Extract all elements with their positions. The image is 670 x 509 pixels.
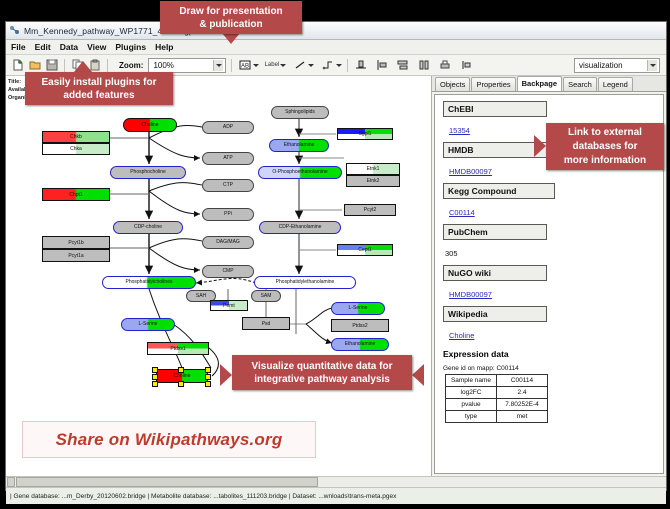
node-ctp[interactable]: CTP (202, 179, 254, 192)
node-label: O-Phosphoethanolamine (272, 170, 327, 175)
callout-draw: Draw for presentation & publication (160, 1, 302, 34)
callout-link-line3: more information (564, 154, 646, 168)
gene-label: Sgpl1 (338, 129, 392, 139)
open-folder-icon[interactable] (27, 58, 42, 73)
node-label: CDP-choline (134, 225, 162, 230)
gene-sgpl1[interactable]: Sgpl1 (337, 128, 393, 140)
node-label: Choline (142, 123, 159, 128)
node-label: Phosphatidylethanolamine (276, 280, 335, 285)
table-cell-key: pvalue (446, 399, 497, 411)
callout-plugins-arrow (74, 61, 92, 72)
align-left-icon[interactable] (374, 58, 389, 73)
table-cell-value: 7.80252E-4 (497, 399, 548, 411)
node-ethanolamine[interactable]: Ethanolamine (269, 139, 329, 152)
label-icon[interactable]: Label (264, 58, 279, 73)
table-row: pvalue 7.80252E-4 (446, 399, 548, 411)
node-label: CDP-Ethanolamine (279, 225, 322, 230)
menu-help[interactable]: Help (155, 42, 173, 52)
table-cell-key: log2FC (446, 387, 497, 399)
node-label: CMP (222, 269, 233, 274)
visualization-combobox[interactable]: visualization (574, 58, 660, 73)
db-header-wikipedia: Wikipedia (443, 306, 547, 322)
line-icon[interactable] (292, 58, 307, 73)
pathvisio-icon (9, 25, 20, 36)
zoom-combobox[interactable]: 100% (148, 58, 226, 73)
sidebar-tabs: Objects Properties Backpage Search Legen… (432, 76, 666, 92)
gene-label: Pcyt1b (43, 237, 109, 248)
db-header-chebi: ChEBI (443, 101, 547, 117)
shape-icon[interactable]: AB (237, 58, 252, 73)
print-icon[interactable] (437, 58, 452, 73)
db-link-nugo[interactable]: HMDB00097 (449, 290, 492, 299)
scroll-thumb[interactable] (16, 477, 318, 487)
node-cdp-choline[interactable]: CDP-choline (113, 221, 183, 234)
node-sam[interactable]: SAM (251, 290, 281, 302)
node-label: DAG/MAG (216, 240, 240, 245)
node-cmp[interactable]: CMP (202, 265, 254, 278)
node-label: L-Serine (139, 322, 158, 327)
node-label: Phosphocholine (130, 170, 166, 175)
toolbar-separator (107, 59, 108, 72)
gene-pemt[interactable]: Pemt (210, 300, 248, 311)
callout-share-text: Share on Wikipathways.org (56, 430, 283, 450)
callout-plugins-line2: added features (41, 89, 156, 102)
resize-handle[interactable] (178, 367, 184, 373)
node-label: SAM (261, 294, 272, 299)
gene-etnk1[interactable]: Etnk1 (346, 163, 400, 175)
node-cdp-ethanolamine[interactable]: CDP-Ethanolamine (259, 221, 341, 234)
node-label: ATP (223, 156, 232, 161)
scroll-left-arrow[interactable] (7, 477, 15, 487)
node-o-phosphoethanolamine[interactable]: O-Phosphoethanolamine (258, 166, 342, 179)
node-label: Ethanolamine (284, 143, 315, 148)
db-link-wikipedia[interactable]: Choline (449, 331, 474, 340)
gene-chpt1[interactable]: Chpt1 (42, 188, 110, 201)
chevron-down-icon[interactable] (308, 64, 314, 67)
node-ppi[interactable]: PPi (202, 208, 254, 221)
gene-label: Pcyt2 (345, 205, 395, 215)
table-cell-value: 2.4 (497, 387, 548, 399)
visualization-value: visualization (579, 61, 623, 70)
gene-pcyt1a[interactable]: Pcyt1a (42, 249, 110, 262)
gene-cept1[interactable]: Cept1 (337, 244, 393, 256)
callout-draw-arrow (222, 33, 240, 44)
gene-chkb[interactable]: Chkb (42, 131, 110, 143)
table-cell-key: type (446, 411, 497, 423)
node-label: Ethanolamine (345, 342, 376, 347)
callout-visualize-arrow (220, 364, 232, 386)
chevron-down-icon[interactable] (280, 64, 286, 67)
node-choline-top[interactable]: Choline (123, 118, 177, 132)
db-value-pubchem: 305 (445, 249, 458, 258)
toolbar-separator (64, 59, 65, 72)
gene-pcyt2[interactable]: Pcyt2 (344, 204, 396, 216)
menu-data[interactable]: Data (60, 42, 78, 52)
size-icon[interactable] (416, 58, 431, 73)
menubar: File Edit Data View Plugins Help (6, 40, 666, 55)
distribute-icon[interactable] (395, 58, 410, 73)
db-link-chebi[interactable]: 15354 (449, 126, 470, 135)
db-header-hmdb: HMDB (443, 142, 547, 158)
gene-label: Ptdss1 (148, 343, 208, 354)
node-sphingolipids[interactable]: Sphingolipids (271, 106, 329, 119)
pathway-canvas[interactable]: Title: Availab Organi (6, 76, 432, 476)
callout-visualize: Visualize quantitative data for integrat… (232, 355, 412, 390)
group-icon[interactable] (458, 58, 473, 73)
gene-label: Pemt (211, 301, 247, 310)
node-label: CTP (223, 183, 233, 188)
node-dagmag[interactable]: DAG/MAG (202, 236, 254, 249)
node-label: Sphingolipids (285, 110, 315, 115)
callout-draw-line1: Draw for presentation (179, 5, 282, 18)
node-atp[interactable]: ATP (202, 152, 254, 165)
chevron-down-icon[interactable] (253, 64, 259, 67)
tab-backpage[interactable]: Backpage (517, 76, 562, 91)
node-label: Phosphatidylcholines (126, 280, 173, 285)
callout-plugins-line1: Easily install plugins for (41, 76, 156, 89)
node-label: Choline (174, 374, 191, 379)
gene-etnk2[interactable]: Etnk2 (346, 175, 400, 187)
gene-pcyt1b[interactable]: Pcyt1b (42, 236, 110, 249)
window-titlebar: Mm_Kennedy_pathway_WP1771_45176.gpml (6, 22, 666, 40)
db-link-hmdb[interactable]: HMDB00097 (449, 167, 492, 176)
table-row: Sample name C00114 (446, 375, 548, 387)
horizontal-scrollbar[interactable] (6, 476, 666, 487)
zoom-label: Zoom: (119, 61, 143, 70)
gene-psd[interactable]: Psd (242, 317, 290, 330)
node-phosphatidylcholines[interactable]: Phosphatidylcholines (102, 276, 196, 289)
gene-ptdss1[interactable]: Ptdss1 (147, 342, 209, 355)
chevron-down-icon[interactable] (336, 64, 342, 67)
gene-chka[interactable]: Chka (42, 143, 110, 155)
callout-plugins: Easily install plugins for added feature… (25, 72, 173, 105)
callout-visualize-arrow-right (412, 364, 424, 386)
gene-label: Chpt1 (43, 189, 109, 200)
menu-view[interactable]: View (87, 42, 106, 52)
gene-label: Pcyt1a (43, 250, 109, 261)
resize-handle[interactable] (152, 374, 158, 380)
gene-label: Psd (243, 318, 289, 329)
resize-handle[interactable] (205, 381, 211, 387)
connector-icon[interactable] (320, 58, 335, 73)
node-label: L-Serine (349, 306, 368, 311)
callout-visualize-line2: integrative pathway analysis (252, 373, 393, 386)
db-link-kegg[interactable]: C00114 (449, 208, 475, 217)
callout-visualize-line1: Visualize quantitative data for (252, 360, 393, 373)
screenshot-root: Mm_Kennedy_pathway_WP1771_45176.gpml Fil… (0, 0, 670, 509)
gene-label: Etnk1 (347, 164, 399, 174)
gene-label: Chkb (43, 132, 109, 142)
gene-ptdss2[interactable]: Ptdss2 (331, 319, 389, 332)
callout-link: Link to external databases for more info… (546, 123, 664, 170)
save-icon[interactable] (44, 58, 59, 73)
toolbar-separator (347, 59, 348, 72)
callout-draw-line2: & publication (179, 18, 282, 31)
callout-link-arrow (534, 135, 546, 157)
svg-text:AB: AB (241, 64, 249, 70)
node-l-serine-left[interactable]: L-Serine (121, 318, 175, 331)
callout-share: Share on Wikipathways.org (22, 421, 316, 458)
resize-handle[interactable] (205, 374, 211, 380)
resize-handle[interactable] (205, 367, 211, 373)
tab-objects[interactable]: Objects (435, 77, 470, 91)
node-adp[interactable]: ADP (202, 121, 254, 134)
toolbar-separator (231, 59, 232, 72)
expression-data-heading: Expression data (443, 349, 655, 359)
table-cell-value: met (497, 411, 548, 423)
gene-label: Cept1 (338, 245, 392, 255)
chevron-down-icon[interactable] (647, 60, 657, 71)
callout-link-line1: Link to external (564, 126, 646, 140)
menu-plugins[interactable]: Plugins (115, 42, 146, 52)
align-top-icon[interactable] (353, 58, 368, 73)
gene-label: Etnk2 (347, 176, 399, 186)
node-l-serine-right[interactable]: L-Serine (331, 302, 385, 315)
node-ethanolamine-2[interactable]: Ethanolamine (331, 338, 389, 351)
gene-id-line: Gene id on mapp: C00114 (443, 365, 655, 372)
expression-table: Sample name C00114 log2FC 2.4 pvalue 7.8… (445, 374, 548, 423)
line-dropdown[interactable] (292, 58, 314, 73)
node-phosphatidylethanolamine[interactable]: Phosphatidylethanolamine (254, 276, 356, 289)
menu-edit[interactable]: Edit (35, 42, 51, 52)
node-label: ADP (223, 125, 233, 130)
table-cell-value: C00114 (497, 375, 548, 387)
table-cell-key: Sample name (446, 375, 497, 387)
gene-label: Ptdss2 (332, 320, 388, 331)
node-choline-selected-group[interactable]: Choline (152, 367, 212, 385)
shape-dropdown[interactable]: AB (237, 58, 259, 73)
connector-dropdown[interactable] (320, 58, 342, 73)
new-file-icon[interactable] (10, 58, 25, 73)
node-label: SAH (196, 294, 206, 299)
gene-label: Chka (43, 144, 109, 154)
menu-file[interactable]: File (11, 42, 26, 52)
tab-search[interactable]: Search (563, 77, 597, 91)
label-dropdown[interactable]: Label (264, 58, 286, 73)
statusbar: | Gene database: ...m_Derby_20120602.bri… (6, 487, 666, 504)
chevron-down-icon[interactable] (213, 60, 223, 71)
db-header-pubchem: PubChem (443, 224, 547, 240)
resize-handle[interactable] (152, 367, 158, 373)
tab-legend[interactable]: Legend (598, 77, 633, 91)
callout-link-line2: databases for (564, 140, 646, 154)
node-label: PPi (224, 212, 232, 217)
table-row: type met (446, 411, 548, 423)
db-header-nugo: NuGO wiki (443, 265, 547, 281)
db-header-kegg: Kegg Compound (443, 183, 555, 199)
zoom-value: 100% (153, 61, 173, 70)
statusbar-text: | Gene database: ...m_Derby_20120602.bri… (10, 493, 396, 500)
table-row: log2FC 2.4 (446, 387, 548, 399)
node-phosphocholine[interactable]: Phosphocholine (110, 166, 186, 179)
resize-handle[interactable] (152, 381, 158, 387)
tab-properties[interactable]: Properties (471, 77, 515, 91)
resize-handle[interactable] (178, 381, 184, 387)
